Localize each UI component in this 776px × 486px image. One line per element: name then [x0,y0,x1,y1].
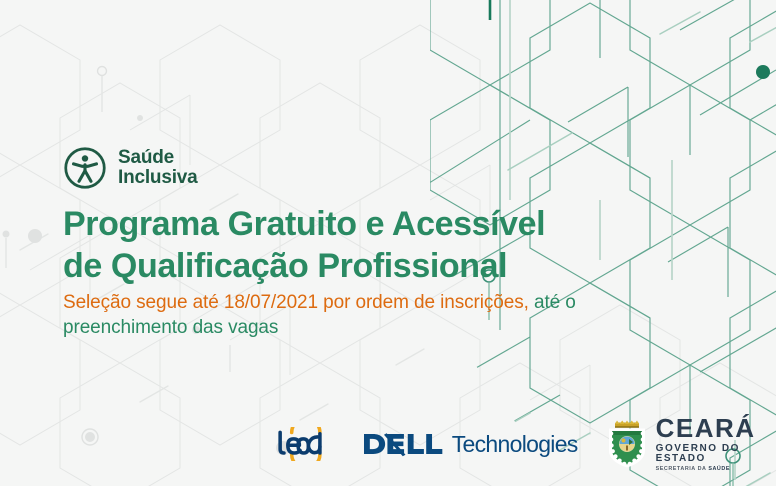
promo-banner: Saúde Inclusiva Programa Gratuito e Aces… [0,0,776,486]
brand-line-1: Saúde [118,148,198,168]
ceara-department-bold: SAÚDE [708,466,730,472]
ceara-department: SECRETARIA DA SAÚDE [656,467,776,472]
ceara-title: CEARÁ [656,415,776,441]
dell-technologies-word: Technologies [452,433,578,456]
brand-logo: Saúde Inclusiva [63,146,198,190]
ceara-government-logo: CEARÁ GOVERNO DO ESTADO SECRETARIA DA SA… [606,415,776,472]
subheadline: Seleção segue até 18/07/2021 por ordem d… [63,290,583,340]
headline-line-1: Programa Gratuito e Acessível [63,205,545,243]
ceara-subtitle: GOVERNO DO ESTADO [656,444,776,464]
dell-technologies-logo: Technologies [364,431,578,457]
ceara-department-prefix: SECRETARIA DA [656,466,709,472]
ceara-wordmark: CEARÁ GOVERNO DO ESTADO SECRETARIA DA SA… [656,415,776,472]
lead-logo [275,427,342,461]
ceara-coat-of-arms-icon [606,420,648,468]
headline-line-2: de Qualificação Profissional [63,245,703,287]
dell-wordmark-icon [364,431,450,457]
accessibility-person-circle-icon [63,146,107,190]
partner-logos: Technologies [275,418,776,470]
subheadline-deadline-text: Seleção segue até 18/07/2021 por ordem d… [63,292,529,313]
brand-wordmark: Saúde Inclusiva [118,148,198,187]
brand-line-2: Inclusiva [118,168,198,188]
headline: Programa Gratuito e Acessível de Qualifi… [63,203,703,287]
